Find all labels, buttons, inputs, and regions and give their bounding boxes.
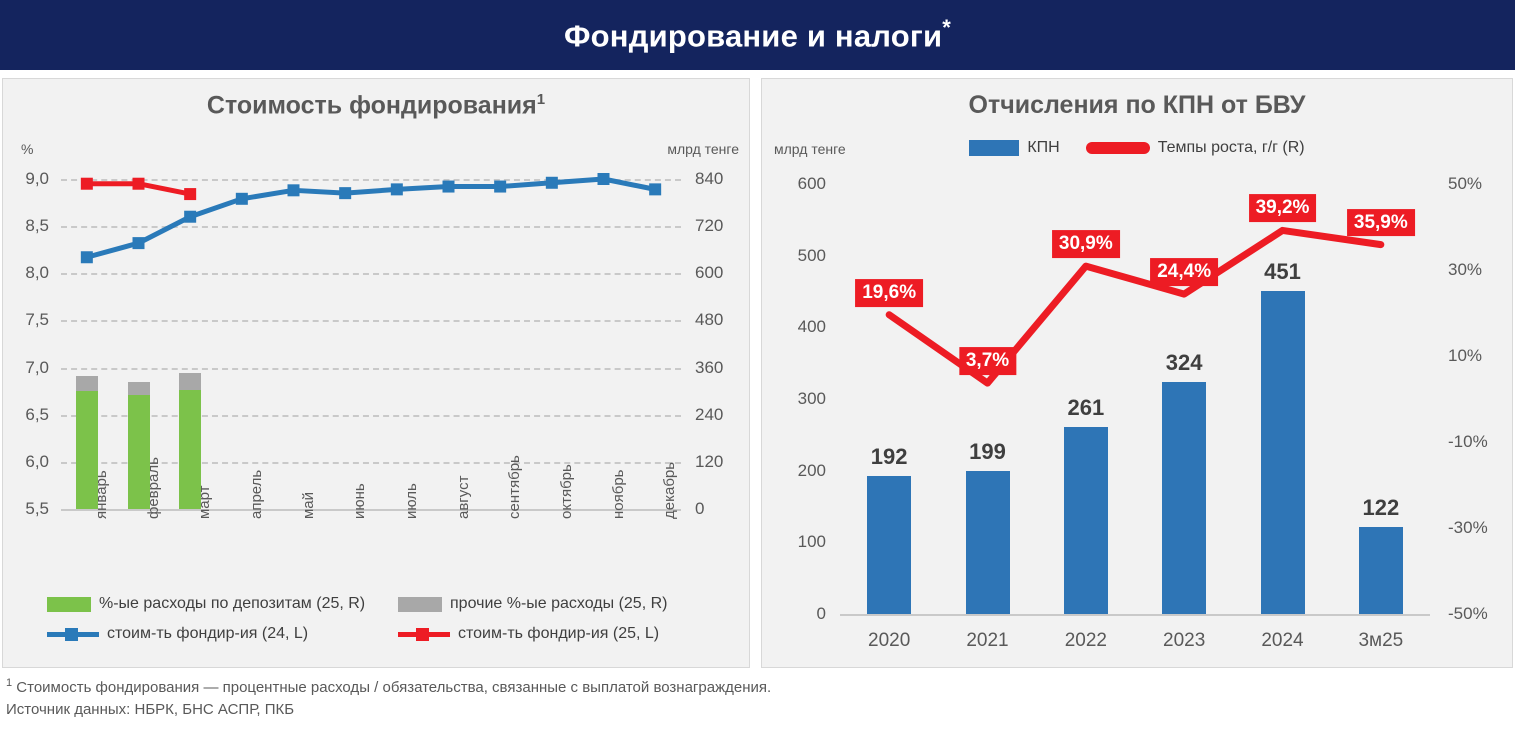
slide-header: Фондирование и налоги* [0, 0, 1515, 70]
y-axis-tick-right: 30% [1448, 260, 1508, 280]
legend-swatch-green [47, 597, 91, 612]
page-title: Фондирование и налоги* [564, 15, 951, 54]
legend-swatch-blue-box [969, 140, 1019, 156]
y-axis-tick-right: 840 [695, 169, 755, 189]
page-title-marker: * [942, 15, 951, 40]
x-axis-tick-label: февраль [145, 457, 162, 519]
funding-cost-plot: 5,56,06,57,07,58,08,59,00120240360480600… [61, 179, 681, 509]
x-axis-tick-label: 3м25 [1358, 630, 1403, 652]
y-axis-tick-left: 200 [766, 461, 826, 481]
funding-cost-panel: Стоимость фондирования1 % млрд тенге 5,5… [2, 78, 750, 668]
y-axis-tick-right: 0 [695, 499, 755, 519]
y-axis-tick-left: 600 [766, 174, 826, 194]
legend-label-kpn: КПН [1027, 139, 1059, 157]
x-axis-tick-label: март [196, 485, 213, 519]
x-axis-tick-label: июль [403, 483, 420, 519]
funding-cost-title-sup: 1 [537, 91, 545, 108]
legend-swatch-red-line [398, 625, 450, 643]
legend-label-funding-24: стоим-ть фондир-ия (24, L) [107, 625, 308, 643]
y-axis-tick-left: 6,5 [0, 405, 49, 425]
x-axis-tick-label: 2020 [868, 630, 910, 652]
cit-growth-label: 24,4% [1150, 258, 1218, 286]
y-axis-tick-left: 8,0 [0, 263, 49, 283]
y-axis-tick-right: -50% [1448, 604, 1508, 624]
left-axis-caption-percent: % [21, 141, 33, 157]
right-axis-caption-bln: млрд тенге [667, 141, 739, 157]
footnotes: 1 Стоимость фондирования — процентные ра… [6, 676, 771, 721]
x-axis-tick-label: апрель [248, 470, 265, 519]
footnote-marker: 1 [6, 677, 12, 689]
legend-item-other-expenses[interactable]: прочие %-ые расходы (25, R) [398, 595, 727, 613]
cit-title: Отчисления по КПН от БВУ [762, 91, 1512, 120]
y-axis-tick-left: 9,0 [0, 169, 49, 189]
legend-row-2: стоим-ть фондир-ия (24, L) стоим-ть фонд… [47, 625, 727, 643]
footnote-source: Источник данных: НБРК, БНС АСПР, ПКБ [6, 699, 771, 721]
footnote-text: Стоимость фондирования — процентные расх… [16, 679, 771, 696]
y-axis-tick-left: 400 [766, 317, 826, 337]
funding-cost-legend: %-ые расходы по депозитам (25, R) прочие… [47, 595, 727, 655]
legend-label-deposit-expenses: %-ые расходы по депозитам (25, R) [99, 595, 365, 613]
x-axis-tick-label: декабрь [661, 462, 678, 519]
x-axis-line [840, 614, 1430, 616]
cit-plot: 0100200300400500600-50%-30%-10%10%30%50%… [840, 184, 1430, 614]
y-axis-tick-left: 7,5 [0, 310, 49, 330]
y-axis-tick-left: 7,0 [0, 358, 49, 378]
x-axis-tick-label: 2021 [966, 630, 1008, 652]
x-axis-tick-label: ноябрь [610, 470, 627, 520]
cit-growth-label: 30,9% [1052, 230, 1120, 258]
slide-root: Фондирование и налоги* Стоимость фондиро… [0, 0, 1515, 731]
y-axis-tick-right: -10% [1448, 432, 1508, 452]
funding-cost-title-text: Стоимость фондирования [207, 91, 537, 119]
legend-swatch-blue-line [47, 625, 99, 643]
x-axis-tick-label: 2023 [1163, 630, 1205, 652]
y-axis-tick-right: 480 [695, 310, 755, 330]
cit-legend: КПН Темпы роста, г/г (R) [762, 139, 1512, 157]
x-axis-tick-label: октябрь [558, 464, 575, 519]
legend-item-growth[interactable]: Темпы роста, г/г (R) [1086, 139, 1305, 157]
legend-label-growth: Темпы роста, г/г (R) [1158, 139, 1305, 157]
y-axis-tick-right: 360 [695, 358, 755, 378]
legend-item-funding-25[interactable]: стоим-ть фондир-ия (25, L) [398, 625, 727, 643]
legend-item-deposit-expenses[interactable]: %-ые расходы по депозитам (25, R) [47, 595, 376, 613]
legend-label-other-expenses: прочие %-ые расходы (25, R) [450, 595, 667, 613]
cit-growth-label: 35,9% [1347, 209, 1415, 237]
page-title-text: Фондирование и налоги [564, 19, 942, 54]
y-axis-tick-right: -30% [1448, 518, 1508, 538]
funding-cost-title: Стоимость фондирования1 [3, 91, 749, 120]
legend-swatch-red-line2 [1086, 142, 1150, 154]
y-axis-tick-left: 300 [766, 389, 826, 409]
legend-row-1: %-ые расходы по депозитам (25, R) прочие… [47, 595, 727, 613]
legend-item-kpn[interactable]: КПН [969, 139, 1059, 157]
cit-growth-label: 3,7% [959, 347, 1016, 375]
y-axis-tick-left: 500 [766, 246, 826, 266]
cit-growth-label: 19,6% [855, 279, 923, 307]
x-axis-tick-label: сентябрь [506, 455, 523, 519]
y-axis-tick-left: 6,0 [0, 452, 49, 472]
y-axis-tick-left: 8,5 [0, 216, 49, 236]
y-axis-tick-left: 0 [766, 604, 826, 624]
cit-growth-line [840, 184, 1430, 614]
x-axis-tick-label: январь [93, 470, 110, 519]
x-axis-tick-label: август [455, 476, 472, 519]
y-axis-tick-right: 240 [695, 405, 755, 425]
y-axis-tick-left: 100 [766, 532, 826, 552]
x-axis-tick-label: июнь [351, 483, 368, 519]
y-axis-tick-right: 600 [695, 263, 755, 283]
y-axis-tick-right: 10% [1448, 346, 1508, 366]
footnote-definition: 1 Стоимость фондирования — процентные ра… [6, 676, 771, 699]
x-axis-tick-label: 2022 [1065, 630, 1107, 652]
legend-swatch-gray [398, 597, 442, 612]
x-axis-tick-label: май [300, 492, 317, 519]
y-axis-tick-right: 720 [695, 216, 755, 236]
legend-label-funding-25: стоим-ть фондир-ия (25, L) [458, 625, 659, 643]
y-axis-tick-right: 50% [1448, 174, 1508, 194]
cit-growth-label: 39,2% [1249, 195, 1317, 223]
legend-item-funding-24[interactable]: стоим-ть фондир-ия (24, L) [47, 625, 376, 643]
y-axis-tick-left: 5,5 [0, 499, 49, 519]
x-axis-tick-label: 2024 [1261, 630, 1303, 652]
y-axis-tick-right: 120 [695, 452, 755, 472]
cit-contributions-panel: Отчисления по КПН от БВУ млрд тенге КПН … [761, 78, 1513, 668]
